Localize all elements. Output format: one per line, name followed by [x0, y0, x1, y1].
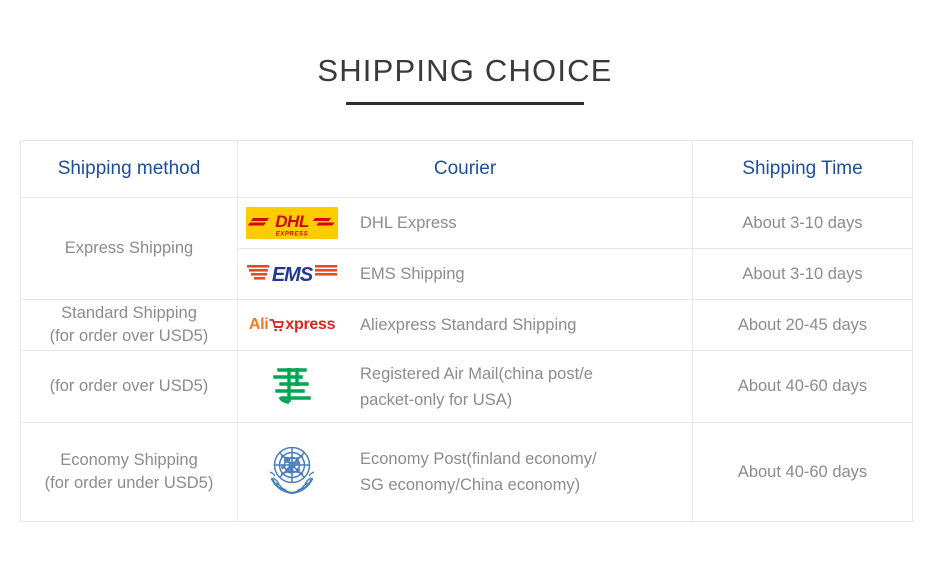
shipping-choice-page: SHIPPING CHOICE Shipping method Courier …: [0, 0, 930, 580]
courier-name-line-2: packet-only for USA): [360, 387, 593, 413]
china-post-logo-box: [238, 365, 346, 409]
shipping-time-cell: About 3-10 days: [693, 198, 913, 249]
united-nations-logo: [261, 441, 323, 504]
ems-logo-box: EMS: [238, 252, 346, 296]
courier-cell-china-post: Registered Air Mail(china post/e packet-…: [238, 351, 693, 423]
method-cell-standard-shipping-note: (for order over USD5): [21, 351, 238, 423]
shipping-time-cell: About 3-10 days: [693, 249, 913, 300]
ems-logo: EMS: [245, 259, 339, 289]
aliexpress-logo-xpress-text: xpress: [285, 316, 335, 334]
table-row: Express Shipping: [21, 198, 913, 249]
courier-cell-aliexpress: Ali xpress: [238, 300, 693, 351]
shipping-time-cell: About 20-45 days: [693, 300, 913, 351]
method-note: (for order over USD5): [21, 325, 237, 348]
courier-name: Economy Post(finland economy/ SG economy…: [346, 446, 597, 498]
courier-name-line-1: Economy Post(finland economy/: [360, 446, 597, 472]
svg-text:DHL: DHL: [275, 212, 309, 231]
courier-name: Aliexpress Standard Shipping: [346, 312, 576, 338]
method-name: Economy Shipping: [60, 451, 198, 469]
shipping-time-cell: About 40-60 days: [693, 423, 913, 522]
method-note: (for order over USD5): [21, 375, 237, 398]
dhl-logo-box: DHL EXPRESS: [238, 201, 346, 245]
courier-name: DHL Express: [346, 210, 457, 236]
dhl-logo: DHL EXPRESS: [246, 207, 338, 239]
courier-cell-ems: EMS EMS Shipping: [238, 249, 693, 300]
table-row: (for order over USD5): [21, 351, 913, 423]
method-name: Standard Shipping: [61, 304, 197, 322]
shipping-options-table: Shipping method Courier Shipping Time Ex…: [20, 140, 913, 522]
column-header-shipping-time: Shipping Time: [693, 141, 913, 198]
title-underline-rule: [346, 102, 584, 105]
method-note: (for order under USD5): [21, 472, 237, 495]
aliexpress-logo-ali-text: Ali: [249, 316, 269, 334]
courier-name: EMS Shipping: [346, 261, 465, 287]
column-header-shipping-method: Shipping method: [21, 141, 238, 198]
page-title: SHIPPING CHOICE: [0, 52, 930, 90]
aliexpress-logo: Ali xpress: [249, 316, 335, 334]
table-header-row: Shipping method Courier Shipping Time: [21, 141, 913, 198]
svg-text:EMS: EMS: [272, 264, 314, 286]
aliexpress-logo-box: Ali xpress: [238, 303, 346, 347]
method-name: Express Shipping: [65, 239, 193, 257]
courier-cell-dhl: DHL EXPRESS DHL Express: [238, 198, 693, 249]
method-cell-standard-shipping: Standard Shipping (for order over USD5): [21, 300, 238, 351]
svg-text:EXPRESS: EXPRESS: [276, 232, 309, 238]
shipping-time-cell: About 40-60 days: [693, 351, 913, 423]
page-title-block: SHIPPING CHOICE: [0, 52, 930, 105]
column-header-courier: Courier: [238, 141, 693, 198]
courier-cell-economy-post: Economy Post(finland economy/ SG economy…: [238, 423, 693, 522]
united-nations-logo-box: [238, 450, 346, 494]
courier-name-line-1: Registered Air Mail(china post/e: [360, 361, 593, 387]
method-cell-economy-shipping: Economy Shipping (for order under USD5): [21, 423, 238, 522]
method-cell-express-shipping: Express Shipping: [21, 198, 238, 300]
courier-name: Registered Air Mail(china post/e packet-…: [346, 361, 593, 413]
china-post-logo: [269, 362, 315, 411]
table-row: Standard Shipping (for order over USD5) …: [21, 300, 913, 351]
courier-name-line-2: SG economy/China economy): [360, 472, 597, 498]
table-row: Economy Shipping (for order under USD5): [21, 423, 913, 522]
shopping-cart-icon: [269, 318, 284, 332]
